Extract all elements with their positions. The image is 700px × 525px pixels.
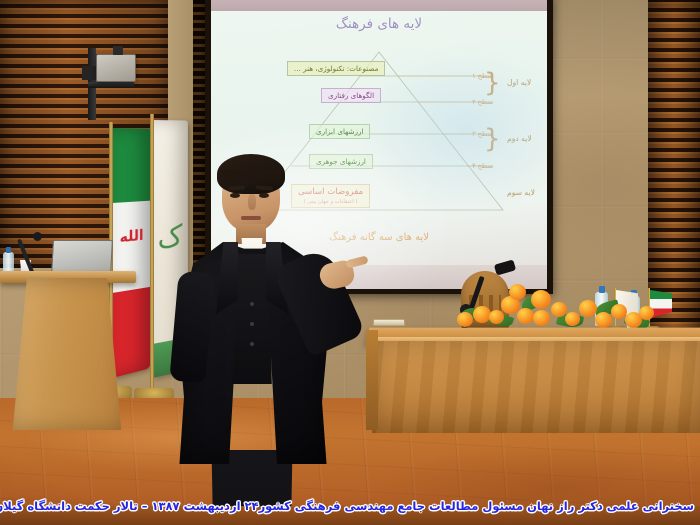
rose (639, 306, 654, 320)
brace-layer-one: } (484, 70, 501, 96)
rose (551, 302, 567, 317)
speaker-podium (8, 278, 126, 430)
rose (509, 284, 526, 300)
projector-lens-icon (113, 46, 123, 55)
podium-microphone-icon (33, 232, 42, 241)
level-marker-2: سطح ۲ (472, 98, 493, 106)
projector-arm (88, 82, 134, 88)
caption-lecture-title: سخنرانی علمی دکتر راز نهان مسئول مطالعات… (259, 499, 694, 513)
rose (579, 300, 597, 317)
podium-laptop (51, 240, 113, 274)
flower-arrangement (455, 284, 665, 334)
pyramid-level-1: مصنوعات: تکنولوژی، هنر ... (287, 61, 385, 76)
slide-top-band (211, 0, 547, 11)
speaker-person (160, 150, 370, 480)
level-marker-4: سطح ۴ (472, 162, 493, 170)
rose (533, 310, 550, 326)
rose (595, 312, 612, 328)
rose (565, 312, 580, 326)
iran-flag-emblem-icon: الله (120, 226, 144, 246)
pyramid-level-3: ارزشهای ابزاری (309, 124, 370, 139)
mouth (241, 216, 261, 220)
pyramid-level-2: الگوهای رفتاری (321, 88, 381, 103)
presidium-desk (372, 341, 700, 433)
rose (531, 290, 551, 309)
rose (489, 310, 504, 324)
rose (517, 308, 534, 324)
eye-right (259, 193, 269, 198)
slide-title: لایه های فرهنگ (211, 16, 547, 32)
caption-date-venue: ۲۴ اردیبهشت ۱۳۸۷ – تالار حکمت دانشگاه گی… (0, 499, 259, 513)
ceiling-projector-icon (96, 54, 136, 82)
layer-label-two: لایه دوم (507, 134, 532, 143)
photo-scene: لایه های فرهنگ مصنوعات: تکنولوژی، هنر (0, 0, 700, 525)
vest-button (250, 322, 254, 326)
caption-overlay: سخنرانی علمی دکتر راز نهان مسئول مطالعات… (0, 495, 700, 517)
desk-book (373, 319, 405, 326)
nose (248, 194, 256, 210)
layer-label-one: لایه اول (507, 78, 531, 87)
flagpole-university (150, 114, 154, 392)
vest-button (250, 342, 254, 346)
caption-left-group: ۲۴ اردیبهشت ۱۳۸۷ – تالار حکمت دانشگاه گی… (0, 499, 259, 513)
index-finger (345, 255, 368, 268)
brace-layer-two: } (484, 126, 501, 152)
iran-flag: الله (112, 128, 151, 378)
vest-button (250, 302, 254, 306)
layer-label-three: لایه سوم (507, 188, 535, 197)
rose (457, 312, 473, 327)
eye-left (230, 193, 240, 198)
